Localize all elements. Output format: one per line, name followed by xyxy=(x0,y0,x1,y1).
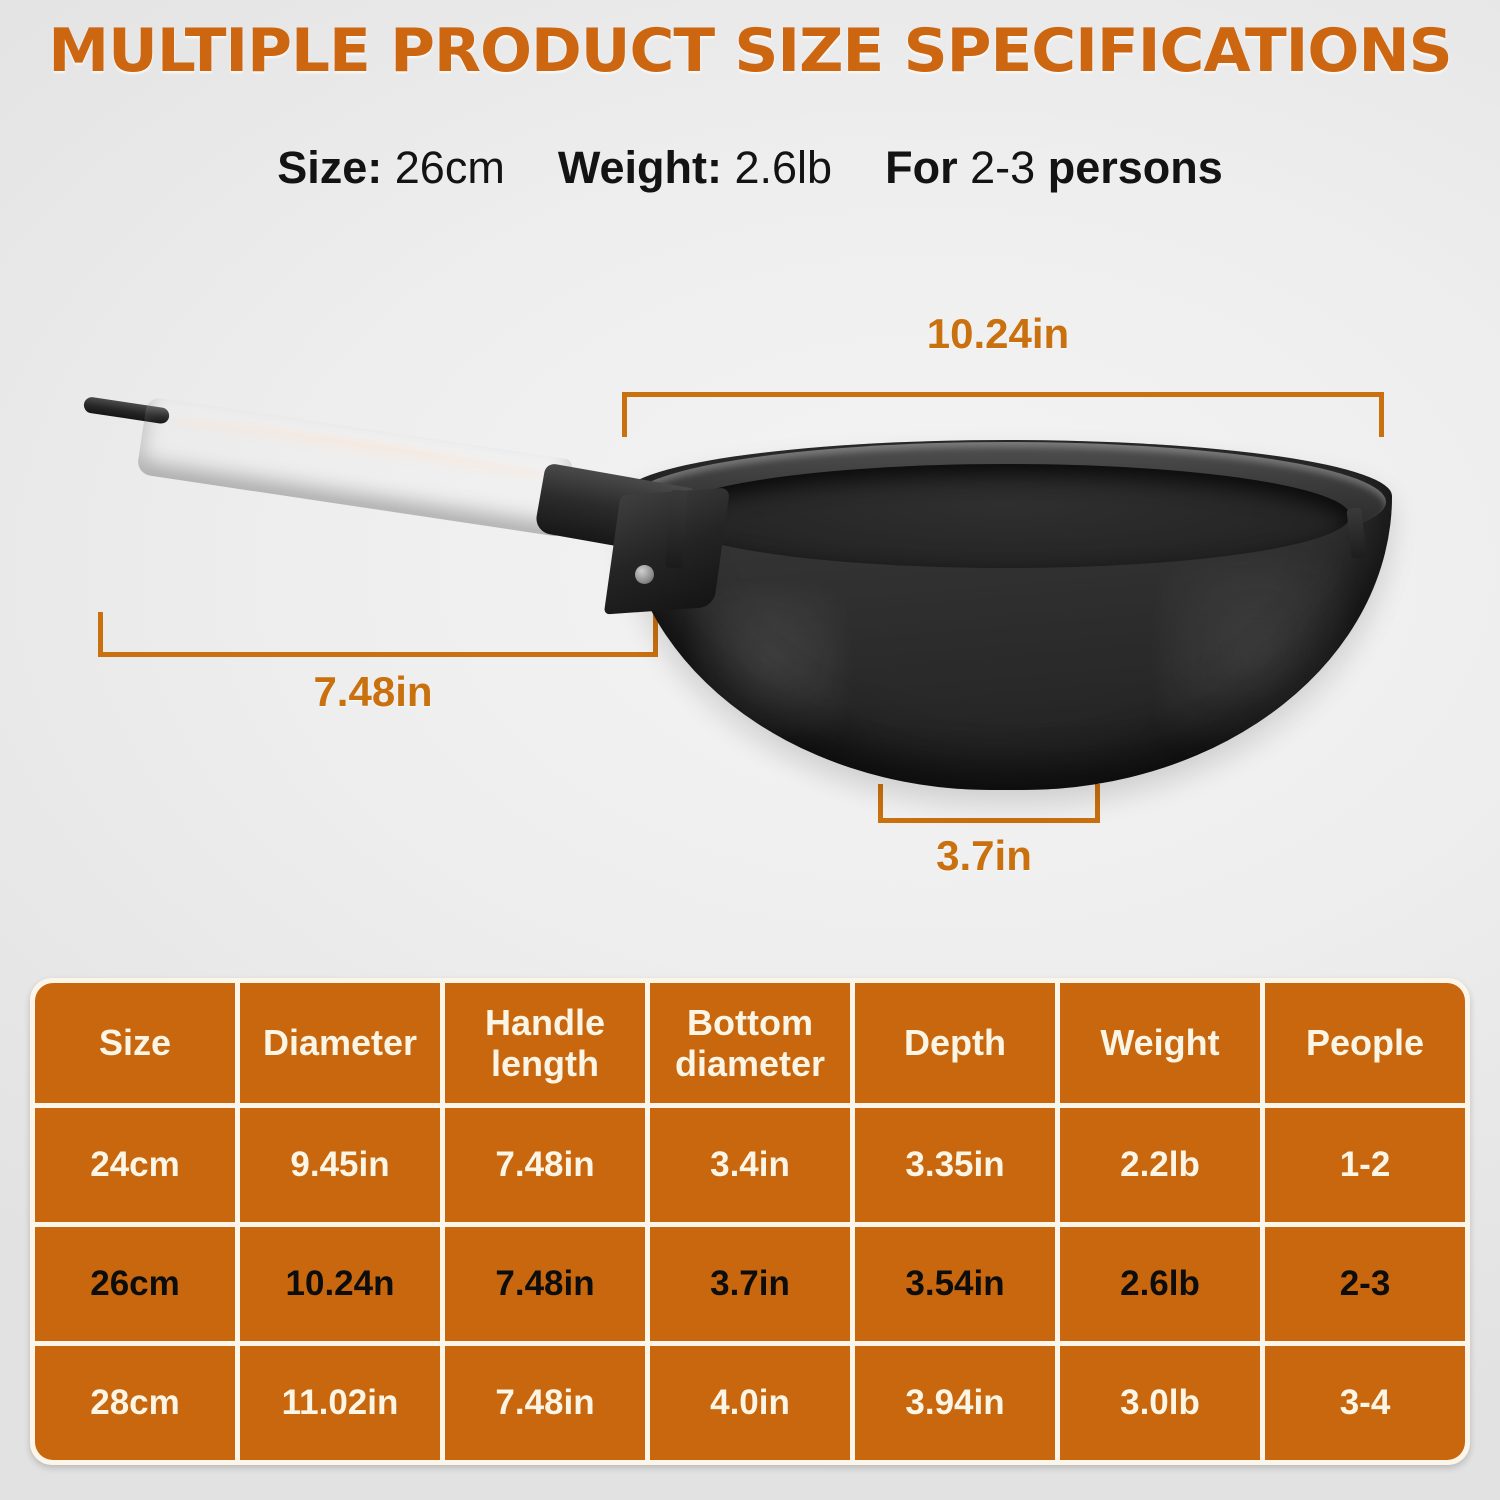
table-column-header: Size xyxy=(35,983,235,1103)
spec-table-header: SizeDiameterHandlelengthBottomdiameterDe… xyxy=(35,983,1465,1103)
table-cell: 3-4 xyxy=(1265,1346,1465,1460)
bottom-diameter-label: 3.7in xyxy=(878,832,1090,880)
table-row: 26cm10.24n7.48in3.7in3.54in2.6lb2-3 xyxy=(35,1227,1465,1341)
table-cell: 10.24n xyxy=(240,1227,440,1341)
table-cell: 2.2lb xyxy=(1060,1108,1260,1222)
page-title: MULTIPLE PRODUCT SIZE SPECIFICATIONS xyxy=(0,16,1500,86)
table-row: 28cm11.02in7.48in4.0in3.94in3.0lb3-4 xyxy=(35,1346,1465,1460)
table-cell: 3.7in xyxy=(650,1227,850,1341)
spec-table-body: 24cm9.45in7.48in3.4in3.35in2.2lb1-226cm1… xyxy=(35,1108,1465,1460)
diameter-bracket xyxy=(622,392,1384,437)
product-spec-page: MULTIPLE PRODUCT SIZE SPECIFICATIONS Siz… xyxy=(0,0,1500,1500)
wok-bowl xyxy=(622,440,1392,790)
table-cell: 26cm xyxy=(35,1227,235,1341)
table-cell: 24cm xyxy=(35,1108,235,1222)
table-cell: 3.0lb xyxy=(1060,1346,1260,1460)
table-header-row: SizeDiameterHandlelengthBottomdiameterDe… xyxy=(35,983,1465,1103)
table-cell: 7.48in xyxy=(445,1108,645,1222)
spec-table: SizeDiameterHandlelengthBottomdiameterDe… xyxy=(30,978,1470,1465)
table-column-header: Handlelength xyxy=(445,983,645,1103)
table-cell: 28cm xyxy=(35,1346,235,1460)
table-column-header: Diameter xyxy=(240,983,440,1103)
table-column-header: Depth xyxy=(855,983,1055,1103)
table-column-header: Weight xyxy=(1060,983,1260,1103)
table-cell: 3.94in xyxy=(855,1346,1055,1460)
weight-label: Weight: xyxy=(558,142,722,193)
table-cell: 4.0in xyxy=(650,1346,850,1460)
handle-rivet xyxy=(635,565,654,584)
people-value: 2-3 xyxy=(970,142,1035,193)
size-value: 26cm xyxy=(395,142,505,193)
handle-length-label: 7.48in xyxy=(98,668,648,716)
table-column-header: People xyxy=(1265,983,1465,1103)
table-cell: 7.48in xyxy=(445,1227,645,1341)
persons-label: persons xyxy=(1048,142,1223,193)
handle-length-bracket xyxy=(98,612,658,657)
wok-interior xyxy=(664,464,1350,568)
table-cell: 1-2 xyxy=(1265,1108,1465,1222)
wok-highlight-right xyxy=(1162,560,1352,750)
table-cell: 2-3 xyxy=(1265,1227,1465,1341)
table-cell: 3.54in xyxy=(855,1227,1055,1341)
for-label: For xyxy=(885,142,958,193)
table-row: 24cm9.45in7.48in3.4in3.35in2.2lb1-2 xyxy=(35,1108,1465,1222)
subtitle-summary: Size: 26cm Weight: 2.6lb For 2-3 persons xyxy=(0,142,1500,194)
weight-value: 2.6lb xyxy=(735,142,833,193)
table-cell: 3.35in xyxy=(855,1108,1055,1222)
table-column-header: Bottomdiameter xyxy=(650,983,850,1103)
table-cell: 7.48in xyxy=(445,1346,645,1460)
diameter-label: 10.24in xyxy=(622,310,1374,358)
wok-highlight-left xyxy=(692,590,842,740)
size-label: Size: xyxy=(277,142,382,193)
table-cell: 2.6lb xyxy=(1060,1227,1260,1341)
spec-table-container: SizeDiameterHandlelengthBottomdiameterDe… xyxy=(30,978,1470,1465)
table-cell: 3.4in xyxy=(650,1108,850,1222)
table-cell: 9.45in xyxy=(240,1108,440,1222)
table-cell: 11.02in xyxy=(240,1346,440,1460)
